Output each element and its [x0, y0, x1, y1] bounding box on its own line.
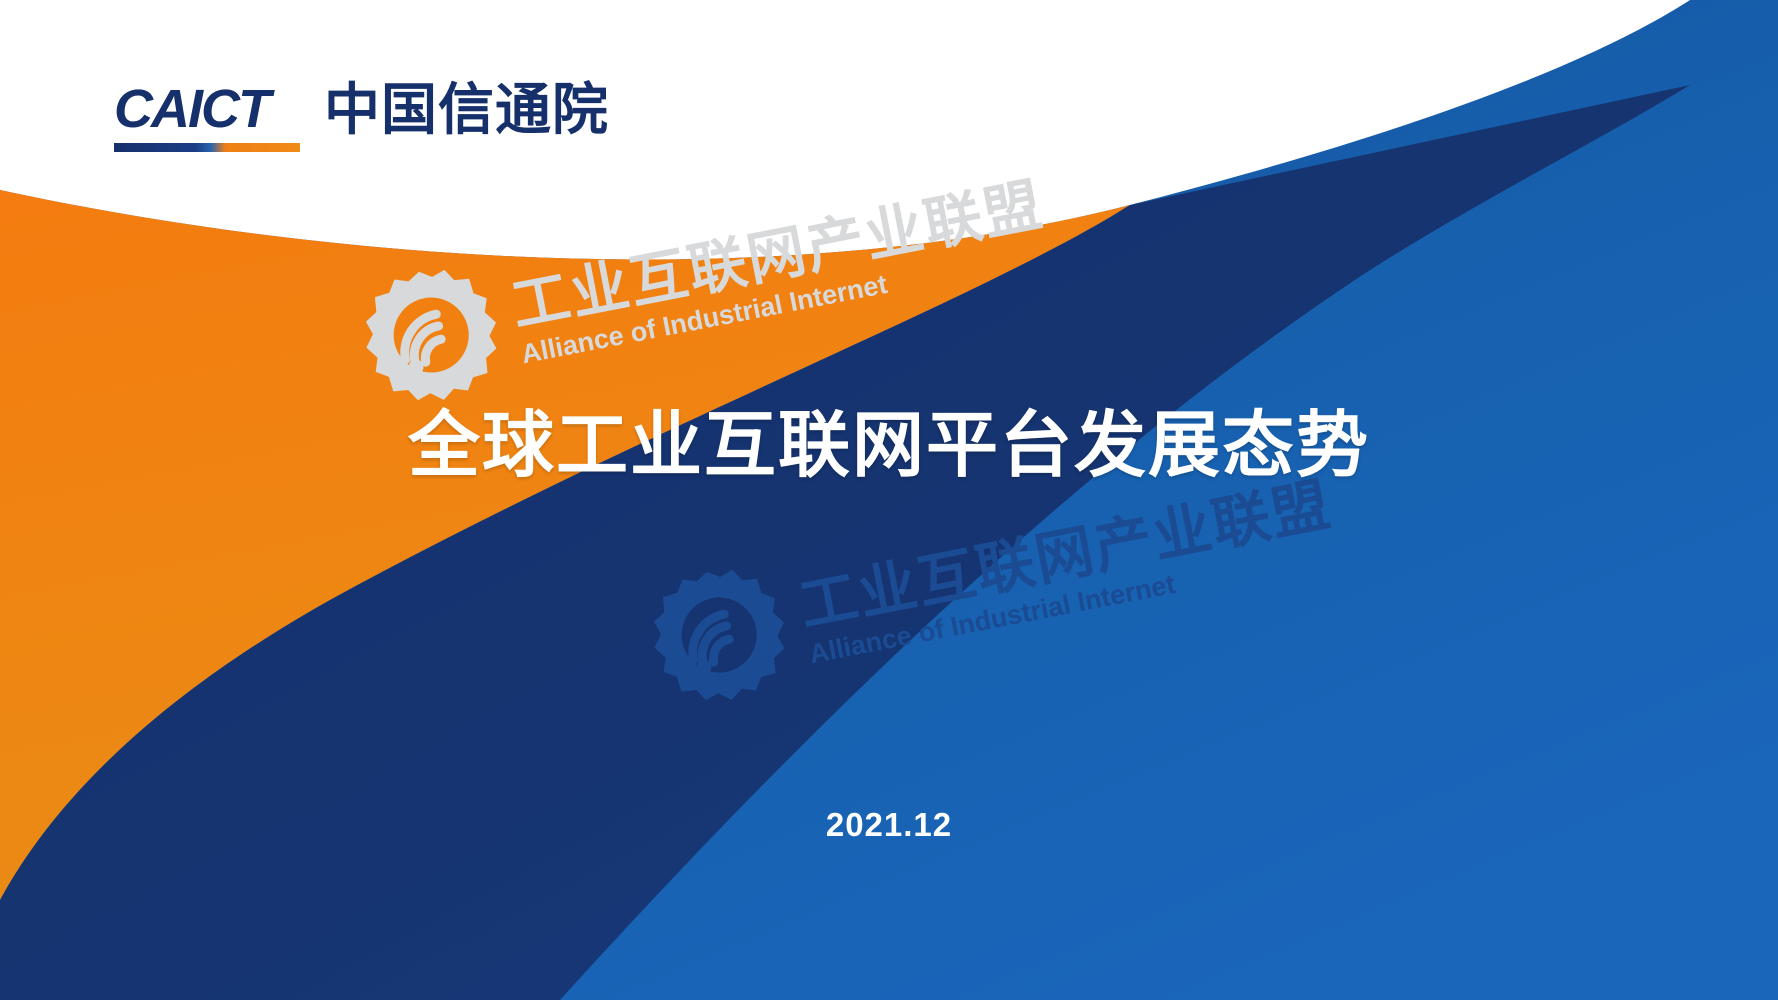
slide-date: 2021.12: [0, 806, 1778, 844]
page-title: 全球工业互联网平台发展态势: [0, 386, 1778, 491]
logo-chinese-name: 中国信通院: [324, 82, 609, 138]
logo-mark: CAICT: [114, 82, 300, 152]
caict-logo: CAICT 中国信通院: [114, 82, 609, 152]
slide-canvas: 工业互联网产业联盟 Alliance of Industrial Interne…: [0, 0, 1778, 1000]
logo-wordmark: CAICT: [114, 82, 300, 136]
logo-underline-bar: [114, 143, 300, 152]
